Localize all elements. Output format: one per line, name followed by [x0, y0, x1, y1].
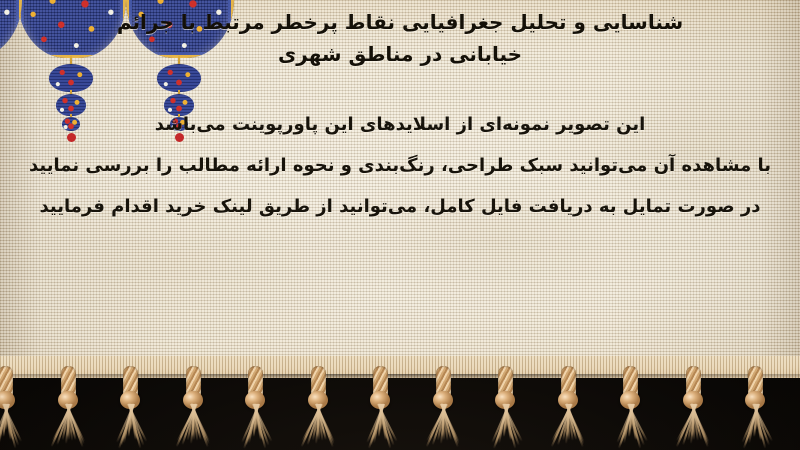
tassel-strands	[180, 404, 206, 448]
tassel	[367, 364, 393, 448]
tassel-strands	[242, 404, 268, 448]
tassel-strands	[555, 404, 581, 448]
slide-title: شناسایی و تحلیل جغرافیایی نقاط پرخطر مرت…	[0, 6, 800, 70]
slide-root: شناسایی و تحلیل جغرافیایی نقاط پرخطر مرت…	[0, 0, 800, 450]
slide-body: این تصویر نمونه‌ای از اسلایدهای این پاور…	[0, 104, 800, 227]
slide-body-line-2: با مشاهده آن می‌توانید سبک طراحی، رنگ‌بن…	[0, 145, 800, 186]
tassel	[742, 364, 768, 448]
tassel	[555, 364, 581, 448]
tassel-strands	[492, 404, 518, 448]
tassel	[430, 364, 456, 448]
slide-title-line-2: خیابانی در مناطق شهری	[0, 38, 800, 70]
tassel	[680, 364, 706, 448]
slide-title-line-1: شناسایی و تحلیل جغرافیایی نقاط پرخطر مرت…	[0, 6, 800, 38]
tassel	[242, 364, 268, 448]
tassel	[0, 364, 18, 448]
carpet-tassel-fringe	[0, 364, 800, 450]
tassel-strands	[617, 404, 643, 448]
tassel	[117, 364, 143, 448]
slide-body-line-1: این تصویر نمونه‌ای از اسلایدهای این پاور…	[0, 104, 800, 145]
tassel	[617, 364, 643, 448]
tassel-strands	[305, 404, 331, 448]
tassel-strands	[117, 404, 143, 448]
tassel-strands	[0, 404, 18, 448]
tassel-strands	[55, 404, 81, 448]
tassel	[492, 364, 518, 448]
tassel	[305, 364, 331, 448]
slide-body-line-3: در صورت تمایل به دریافت فایل کامل، می‌تو…	[0, 186, 800, 227]
tassel-strands	[367, 404, 393, 448]
tassel-strands	[680, 404, 706, 448]
tassel	[55, 364, 81, 448]
tassel-strands	[742, 404, 768, 448]
tassel-strands	[430, 404, 456, 448]
tassel	[180, 364, 206, 448]
